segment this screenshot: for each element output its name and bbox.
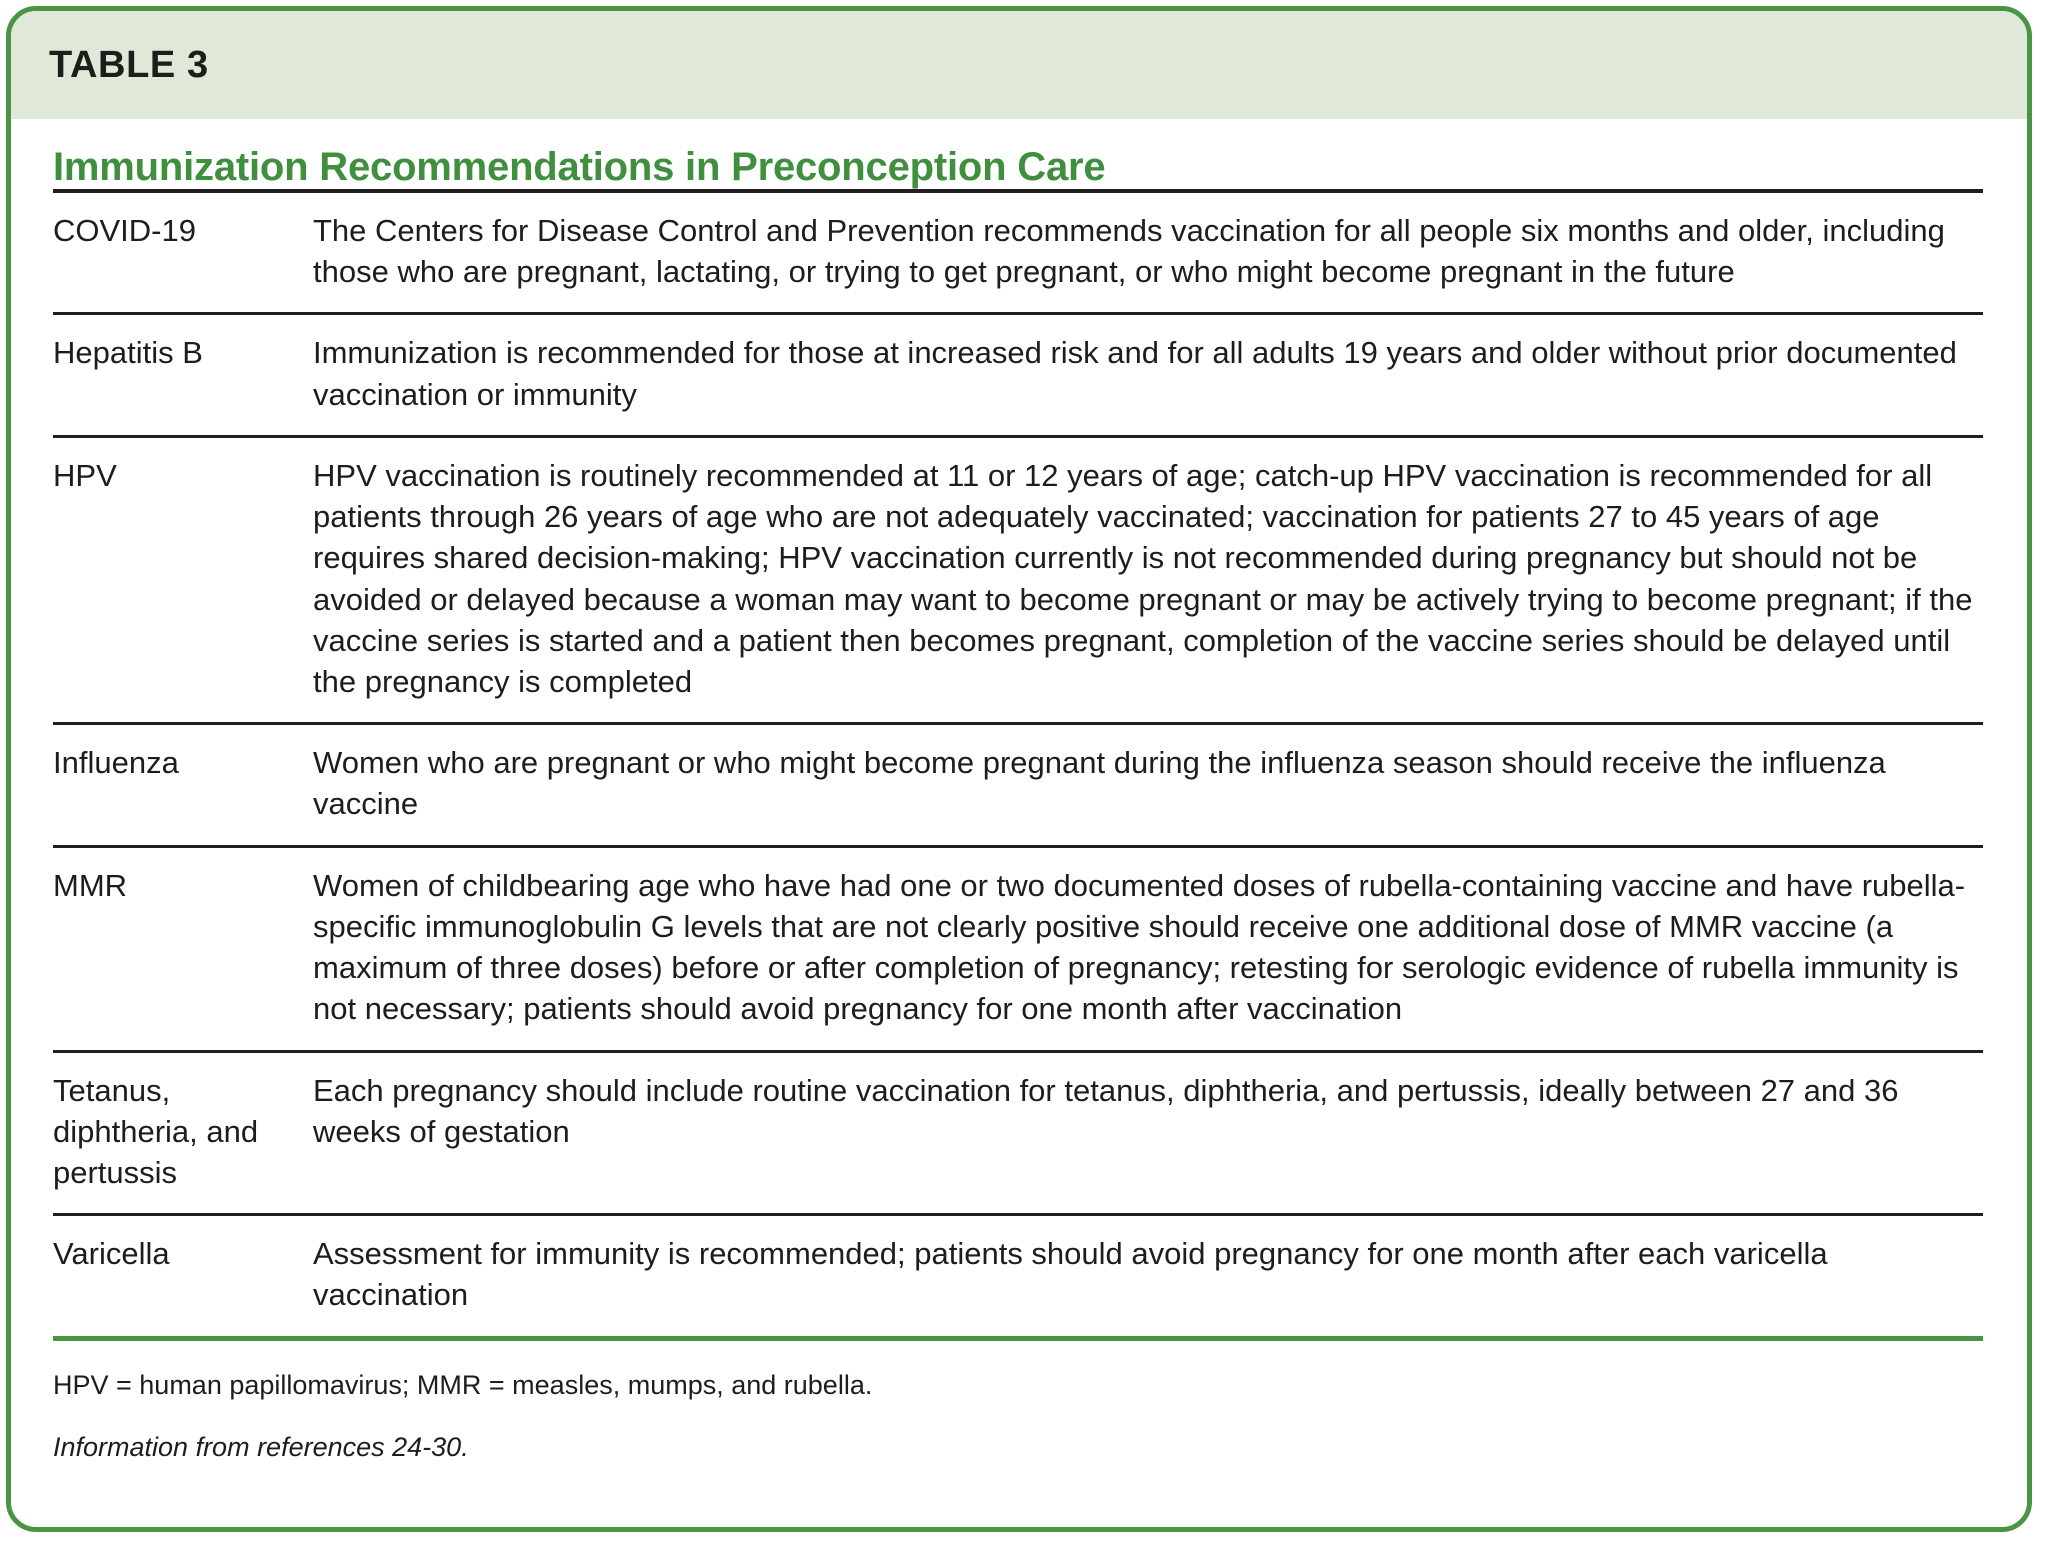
row-label: Tetanus, diphtheria, and pertussis — [53, 1051, 313, 1215]
table-row: Varicella Assessment for immunity is rec… — [53, 1215, 1983, 1336]
row-label: Influenza — [53, 724, 313, 846]
table-card: TABLE 3 Immunization Recommendations in … — [6, 6, 2032, 1532]
row-label: Hepatitis B — [53, 314, 313, 436]
page-title: Immunization Recommendations in Preconce… — [53, 145, 1983, 189]
row-description: The Centers for Disease Control and Prev… — [313, 191, 1983, 314]
row-description: Women of childbearing age who have had o… — [313, 846, 1983, 1051]
table-rows: COVID-19 The Centers for Disease Control… — [53, 191, 1983, 1336]
abbreviations-note: HPV = human papillomavirus; MMR = measle… — [53, 1367, 1983, 1403]
source-note: Information from references 24-30. — [53, 1429, 1983, 1465]
immunization-table: COVID-19 The Centers for Disease Control… — [53, 189, 1983, 1336]
table-body: COVID-19 The Centers for Disease Control… — [11, 189, 2027, 1336]
row-description: Women who are pregnant or who might beco… — [313, 724, 1983, 846]
table-number-label: TABLE 3 — [49, 44, 209, 87]
row-description: Each pregnancy should include routine va… — [313, 1051, 1983, 1215]
row-label: COVID-19 — [53, 191, 313, 314]
row-description: Assessment for immunity is recommended; … — [313, 1215, 1983, 1336]
table-footer: HPV = human papillomavirus; MMR = measle… — [11, 1341, 2027, 1466]
table-number-band: TABLE 3 — [11, 11, 2027, 119]
table-row: Hepatitis B Immunization is recommended … — [53, 314, 1983, 436]
row-description: HPV vaccination is routinely recommended… — [313, 436, 1983, 723]
table-row: HPV HPV vaccination is routinely recomme… — [53, 436, 1983, 723]
table-row: COVID-19 The Centers for Disease Control… — [53, 191, 1983, 314]
table-title-container: Immunization Recommendations in Preconce… — [11, 119, 2027, 189]
row-label: Varicella — [53, 1215, 313, 1336]
row-description: Immunization is recommended for those at… — [313, 314, 1983, 436]
table-row: Tetanus, diphtheria, and pertussis Each … — [53, 1051, 1983, 1215]
table-row: Influenza Women who are pregnant or who … — [53, 724, 1983, 846]
row-label: MMR — [53, 846, 313, 1051]
table-row: MMR Women of childbearing age who have h… — [53, 846, 1983, 1051]
row-label: HPV — [53, 436, 313, 723]
